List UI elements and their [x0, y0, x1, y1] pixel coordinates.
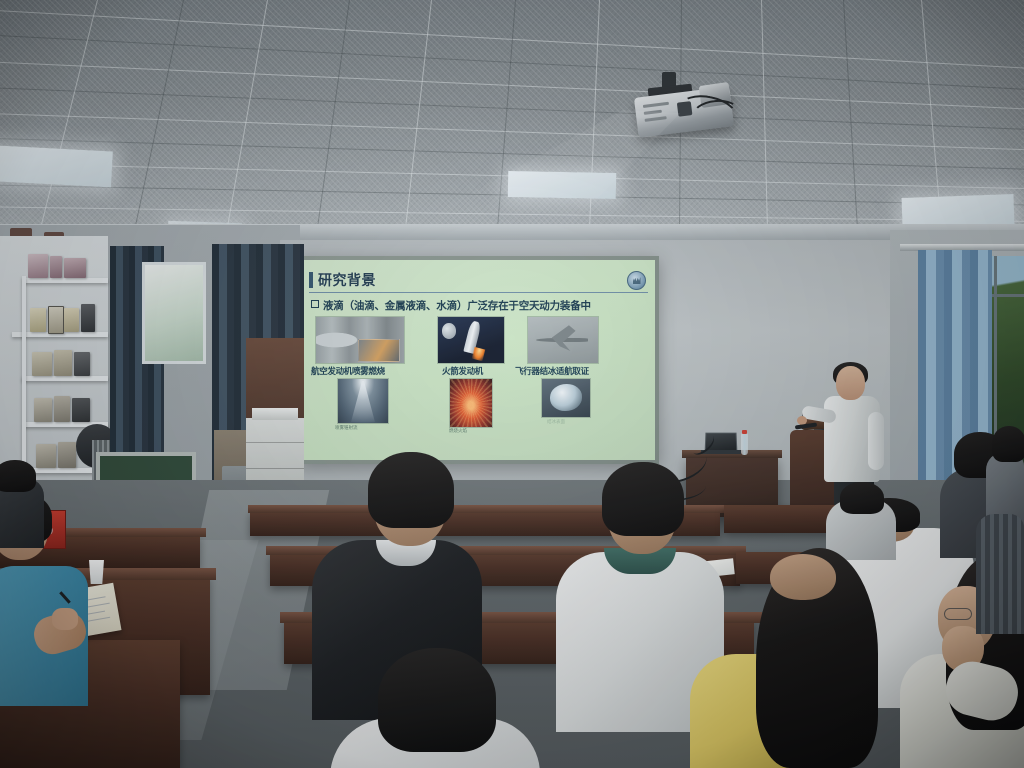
shelf-item	[58, 442, 76, 468]
ceiling-light-panel	[508, 171, 616, 199]
slide-subcaption-2: 燃烧火焰	[449, 428, 467, 434]
presenter-arm-right	[868, 412, 884, 470]
attendee-hair	[992, 426, 1024, 462]
attendee-head	[770, 554, 836, 600]
shelf-item	[72, 398, 90, 422]
attendee-hair	[378, 648, 496, 752]
slide-figure-spray	[337, 378, 389, 424]
slide-figure-aero-engine	[315, 316, 405, 364]
slide-title-accent	[309, 272, 313, 288]
attendee-shirt	[976, 514, 1024, 634]
eyeglasses	[944, 608, 972, 620]
shelf-item	[50, 256, 62, 278]
shelf-item	[54, 350, 72, 376]
bullet-square-icon	[311, 300, 319, 308]
lecture-hall-photo: 研究背景 液滴（油滴、金属液滴、水滴）广泛存在于空天动力装备中 航空发动机喷雾燃…	[0, 0, 1024, 768]
slide-caption-2: 火箭发动机	[442, 365, 483, 377]
slide-title-bar: 研究背景	[309, 270, 648, 293]
presenter-head	[836, 366, 865, 400]
shelf-item	[74, 352, 90, 376]
slide-figure-icing	[541, 378, 591, 418]
slide-figure-rocket	[437, 316, 505, 364]
projection-screen: 研究背景 液滴（油滴、金属液滴、水滴）广泛存在于空天动力装备中 航空发动机喷雾燃…	[297, 256, 659, 464]
shelf-item	[81, 304, 95, 332]
ceiling-light-panel	[902, 194, 1015, 228]
shelf-item	[64, 258, 86, 278]
slide-subcaption-1: 喷雾锥射流	[335, 425, 358, 431]
slide-bullet: 液滴（油滴、金属液滴、水滴）广泛存在于空天动力装备中	[311, 298, 591, 313]
stacked-papers	[252, 408, 298, 420]
water-bottle	[741, 433, 748, 455]
attendee-hair	[368, 452, 454, 528]
attendee-hair	[0, 460, 36, 492]
shelf-upright	[22, 276, 26, 488]
slide-bullet-text: 液滴（油滴、金属液滴、水滴）广泛存在于空天动力装备中	[323, 300, 591, 312]
slide-surface: 研究背景 液滴（油滴、金属液滴、水滴）广泛存在于空天动力装备中 航空发动机喷雾燃…	[301, 260, 655, 460]
slide-caption-1: 航空发动机喷雾燃烧	[311, 365, 385, 377]
slide-caption-3: 飞行器结冰适航取证	[515, 365, 589, 377]
slide-figure-aircraft	[527, 316, 599, 364]
shelf-item	[36, 444, 56, 468]
ceiling-light-panel	[0, 145, 113, 188]
shelf-item	[32, 352, 52, 376]
slide-figure-flame	[449, 378, 493, 428]
window-left	[142, 262, 206, 364]
attendee-hair	[840, 482, 884, 514]
paper-cup	[88, 560, 105, 584]
slide-subcaption-3: 结冰表面	[547, 419, 565, 425]
shelf-board	[22, 376, 108, 381]
shelf-board	[24, 278, 108, 283]
slide-title: 研究背景	[318, 271, 376, 289]
shelf-item	[64, 308, 79, 332]
shelf-item	[28, 254, 48, 278]
university-emblem-icon	[627, 271, 646, 290]
shelf-item	[54, 396, 70, 422]
shelf-item	[30, 308, 46, 332]
shelf-item	[48, 306, 64, 334]
attendee-hand	[52, 608, 78, 630]
attendee-hair	[602, 462, 684, 536]
shelf-item	[34, 398, 52, 422]
slide-figure-row-1: 航空发动机喷雾燃烧 火箭发动机 飞行器结冰适航取证 喷雾锥射流	[309, 316, 648, 416]
